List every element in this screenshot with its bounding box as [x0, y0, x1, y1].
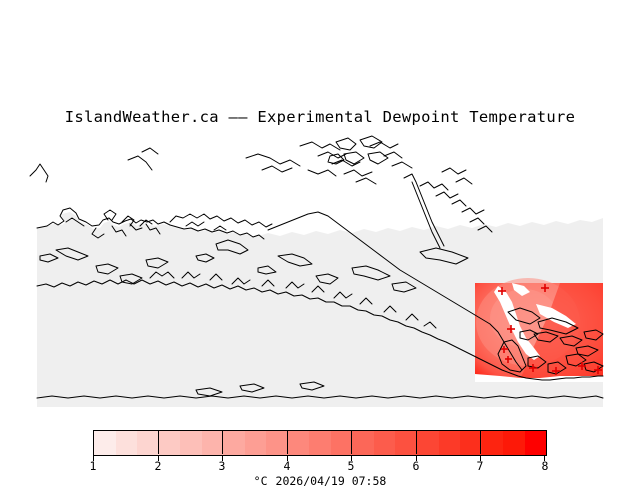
- colorbar-step: [309, 431, 331, 455]
- colorbar-strip-frame[interactable]: [93, 430, 547, 456]
- colorbar-tick-label: 7: [477, 460, 484, 473]
- colorbar-tick-label: 6: [413, 460, 420, 473]
- colorbar-step: [352, 431, 374, 455]
- colorbar-step: [137, 431, 159, 455]
- colorbar-step: [94, 431, 116, 455]
- colorbar-caption: °C2026/04/19 07:58: [0, 474, 640, 488]
- colorbar-step: [288, 431, 310, 455]
- coastline-broughton-islands: [328, 136, 388, 164]
- colorbar-step: [395, 431, 417, 455]
- colorbar-step: [525, 431, 547, 455]
- colorbar-tick-label: 3: [219, 460, 226, 473]
- coastline-mainland-inlets: [420, 168, 492, 232]
- colorbar-tick-label: 4: [284, 460, 291, 473]
- page-title: IslandWeather.ca —— Experimental Dewpoin…: [0, 108, 640, 126]
- colorbar-unit-label: °C: [254, 474, 268, 488]
- colorbar-tick-label: 8: [542, 460, 549, 473]
- colorbar-timestamp: 2026/04/19 07:58: [276, 474, 387, 488]
- colorbar-step: [482, 431, 504, 455]
- colorbar-step: [245, 431, 267, 455]
- colorbar-step: [417, 431, 439, 455]
- colorbar-step: [503, 431, 525, 455]
- colorbar-step: [331, 431, 353, 455]
- colorbar-tick-label: 2: [155, 460, 162, 473]
- weather-map-page: IslandWeather.ca —— Experimental Dewpoin…: [0, 0, 640, 480]
- colorbar-step: [266, 431, 288, 455]
- colorbar-step: [460, 431, 482, 455]
- colorbar-step: [374, 431, 396, 455]
- colorbar-step: [180, 431, 202, 455]
- colorbar-step: [202, 431, 224, 455]
- colorbar-step: [439, 431, 461, 455]
- coastline-north-central: [170, 214, 272, 230]
- colorbar-step: [223, 431, 245, 455]
- colorbar-step: [159, 431, 181, 455]
- colorbar-tick-label: 5: [348, 460, 355, 473]
- colorbar-gradient: [94, 431, 546, 455]
- colorbar-tick-labels: 12345678: [0, 460, 640, 474]
- map-canvas[interactable]: [0, 126, 640, 416]
- colorbar-tick-label: 1: [90, 460, 97, 473]
- coastline-north-islands: [246, 142, 412, 184]
- colorbar-step: [116, 431, 138, 455]
- colorbar: 12345678 °C2026/04/19 07:58: [0, 424, 640, 480]
- map-graphic: [0, 126, 640, 416]
